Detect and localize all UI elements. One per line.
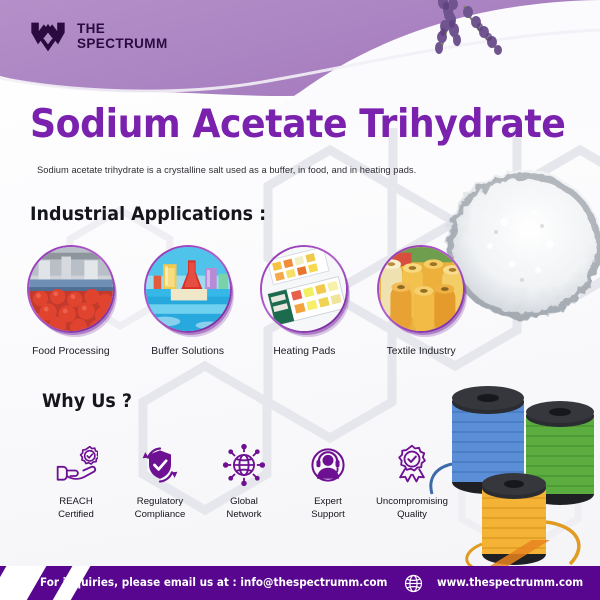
application-item[interactable]: Buffer Solutions <box>143 245 233 357</box>
page-subtitle: Sodium acetate trihydrate is a crystalli… <box>37 165 416 175</box>
application-label: Food Processing <box>32 346 110 357</box>
application-item[interactable]: Textile Industry <box>376 245 466 357</box>
brand-logo[interactable]: THE SPECTRUMM <box>28 16 168 56</box>
applications-heading: Industrial Applications : <box>30 203 266 225</box>
why-us-heading: Why Us ? <box>42 390 132 412</box>
application-image-ring <box>27 245 115 333</box>
feature-item[interactable]: Expert Support <box>286 443 370 522</box>
feature-item[interactable]: Uncompromising Quality <box>370 443 454 522</box>
page-title: Sodium Acetate Trihydrate <box>30 102 565 147</box>
application-item[interactable]: Heating Pads <box>260 245 350 357</box>
heating-pads-ph-strips-image <box>262 247 346 331</box>
globe-network-icon <box>222 443 266 487</box>
footer-website-text[interactable]: www.thespectrumm.com <box>437 575 583 589</box>
footer-bar: For inquiries, please email us at : info… <box>0 566 600 600</box>
infographic-poster: THE SPECTRUMM <box>0 0 600 600</box>
spectrumm-w-mark-icon <box>28 16 68 56</box>
award-rosette-check-icon <box>390 443 434 487</box>
applications-list: Food Processing <box>26 245 466 357</box>
brand-name-line1: THE <box>77 21 168 36</box>
brand-name-line2: SPECTRUMM <box>77 36 168 51</box>
application-label: Textile Industry <box>387 346 456 357</box>
textile-industry-fabric-rolls-image <box>379 247 463 331</box>
lavender-sprig-icon <box>424 0 544 83</box>
why-us-list: REACH Certified Regulatory Compliance <box>34 443 474 522</box>
feature-item[interactable]: Regulatory Compliance <box>118 443 202 522</box>
application-label: Buffer Solutions <box>151 346 224 357</box>
feature-item[interactable]: REACH Certified <box>34 443 118 522</box>
footer-email-text[interactable]: For inquiries, please email us at : info… <box>40 575 387 589</box>
buffer-solutions-lab-glassware-image <box>146 247 230 331</box>
globe-icon <box>404 574 423 598</box>
application-image-ring <box>144 245 232 333</box>
brand-name: THE SPECTRUMM <box>77 21 168 51</box>
feature-label: Global Network <box>226 496 261 522</box>
hand-certificate-badge-icon <box>54 443 98 487</box>
application-image-ring <box>260 245 348 333</box>
application-image-ring <box>377 245 465 333</box>
shield-check-refresh-icon <box>138 443 182 487</box>
headset-agent-icon <box>306 443 350 487</box>
feature-label: Uncompromising Quality <box>376 496 448 522</box>
feature-label: Expert Support <box>311 496 345 522</box>
feature-label: REACH Certified <box>58 496 94 522</box>
application-item[interactable]: Food Processing <box>26 245 116 357</box>
feature-label: Regulatory Compliance <box>135 496 186 522</box>
feature-item[interactable]: Global Network <box>202 443 286 522</box>
food-processing-tomatoes-conveyor-image <box>29 247 113 331</box>
application-label: Heating Pads <box>273 346 335 357</box>
